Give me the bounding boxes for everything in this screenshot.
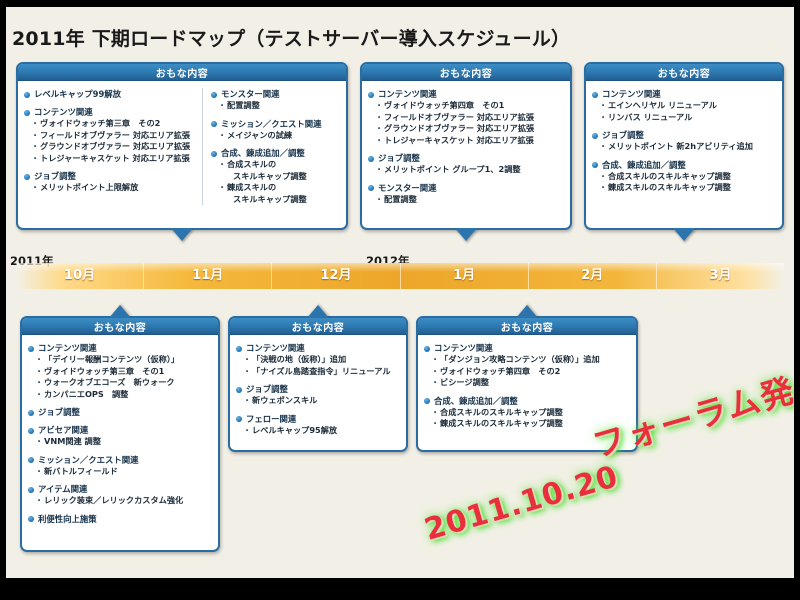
group-heading: コンテンツ関連	[28, 342, 212, 354]
content-group: ジョブ調整	[28, 406, 212, 418]
content-group: 合成、錬成追加／調整 合成スキルのスキルキャップ調整 錬成スキルのスキルキャップ…	[424, 395, 630, 430]
connector-arrow-down-icon	[673, 228, 695, 241]
content-group: レベルキャップ99解放	[24, 88, 202, 100]
group-item: 新ウェポンスキル	[236, 395, 400, 407]
group-heading: ジョブ調整	[368, 152, 564, 164]
connector-arrow-up-icon	[307, 305, 329, 318]
group-item: 合成スキルの	[211, 159, 340, 171]
timeline-month-cell: 11月	[144, 263, 272, 289]
frame-edge-right	[794, 0, 800, 600]
panel-column-left: コンテンツ関連 「ダンジョン攻略コンテンツ（仮称）」追加 ヴォイドウォッチ第四章…	[424, 342, 630, 430]
group-heading: ジョブ調整	[236, 383, 400, 395]
connector-arrow-up-icon	[516, 305, 538, 318]
group-item: 新バトルフィールド	[28, 466, 212, 478]
content-group: コンテンツ関連 エインヘリヤル リニューアル リンバス リニューアル	[592, 88, 776, 123]
top-panel-december: おもな内容 コンテンツ関連 ヴォイドウォッチ第四章 その1 フィールドオブヴァラ…	[360, 62, 572, 230]
content-group: フェロー関連 レベルキャップ95解放	[236, 413, 400, 437]
group-item: エインヘリヤル リニューアル	[592, 100, 776, 112]
connector-arrow-down-icon	[455, 228, 477, 241]
content-group: ミッション／クエスト関連 新バトルフィールド	[28, 454, 212, 478]
group-item: 合成スキルのスキルキャップ調整	[424, 407, 630, 419]
group-item: メリットポイント 新2hアビリティ追加	[592, 141, 776, 153]
page-title: 2011年 下期ロードマップ（テストサーバー導入スケジュール）	[12, 24, 570, 51]
content-group: 利便性向上施策	[28, 513, 212, 525]
panel-header-label: おもな内容	[586, 64, 782, 81]
content-group: アイテム関連 レリック装束／レリックカスタム強化	[28, 483, 212, 507]
group-heading: コンテンツ関連	[368, 88, 564, 100]
group-heading: 合成、錬成追加／調整	[592, 159, 776, 171]
bottom-panel-december: おもな内容 コンテンツ関連 「決戦の地（仮称）」追加 「ナイズル島踏査指令」リニ…	[228, 316, 408, 452]
timeline-month-cell: 12月	[272, 263, 400, 289]
panel-column-left: コンテンツ関連 エインヘリヤル リニューアル リンバス リニューアル ジョブ調整…	[592, 88, 776, 194]
group-item: フィールドオブヴァラー 対応エリア拡張	[24, 130, 202, 142]
content-group: アビセア関連 VNM関連 調整	[28, 424, 212, 448]
group-item: カンパニエOPS 調整	[28, 389, 212, 401]
content-group: ジョブ調整 メリットポイント 新2hアビリティ追加	[592, 129, 776, 153]
group-item: リンバス リニューアル	[592, 112, 776, 124]
panel-column-left: レベルキャップ99解放 コンテンツ関連 ヴォイドウォッチ第三章 その2 フィール…	[24, 88, 202, 205]
panel-column-left: コンテンツ関連 「デイリー報酬コンテンツ（仮称）」 ヴォイドウォッチ第三章 その…	[28, 342, 212, 525]
content-group: ジョブ調整 メリットポイント上限解放	[24, 170, 202, 194]
group-item: レリック装束／レリックカスタム強化	[28, 495, 212, 507]
group-heading: ジョブ調整	[24, 170, 202, 182]
panel-column-left: コンテンツ関連 ヴォイドウォッチ第四章 その1 フィールドオブヴァラー 対応エリ…	[368, 88, 564, 205]
panel-header-label: おもな内容	[362, 64, 570, 81]
group-item: VNM関連 調整	[28, 436, 212, 448]
group-heading: ミッション／クエスト関連	[211, 118, 340, 130]
timeline-month-cell: 3月	[657, 263, 784, 289]
connector-arrow-down-icon	[171, 228, 193, 241]
content-group: 合成、錬成追加／調整 合成スキルの スキルキャップ調整 錬成スキルの スキルキャ…	[211, 147, 340, 205]
content-group: 合成、錬成追加／調整 合成スキルのスキルキャップ調整 錬成スキルのスキルキャップ…	[592, 159, 776, 194]
group-heading: ミッション／クエスト関連	[28, 454, 212, 466]
group-item: レベルキャップ95解放	[236, 425, 400, 437]
group-item: スキルキャップ調整	[211, 194, 340, 206]
group-heading: モンスター関連	[211, 88, 340, 100]
timeline-bar: 10月 11月 12月 1月 2月 3月	[16, 263, 784, 289]
content-group: モンスター関連 配置調整	[211, 88, 340, 112]
group-item: ヴォイドウォッチ第三章 その1	[28, 366, 212, 378]
frame-edge-bottom	[0, 578, 800, 600]
content-group: コンテンツ関連 「デイリー報酬コンテンツ（仮称）」 ヴォイドウォッチ第三章 その…	[28, 342, 212, 400]
watermark-date: 2011.10.20	[421, 459, 623, 548]
group-heading: フェロー関連	[236, 413, 400, 425]
group-item: 錬成スキルのスキルキャップ調整	[424, 418, 630, 430]
group-item: グラウンドオブヴァラー 対応エリア拡張	[368, 123, 564, 135]
timeline-month-cell: 1月	[401, 263, 529, 289]
group-item: ヴォイドウォッチ第四章 その1	[368, 100, 564, 112]
group-heading: コンテンツ関連	[24, 106, 202, 118]
panel-column-left: コンテンツ関連 「決戦の地（仮称）」追加 「ナイズル島踏査指令」リニューアル ジ…	[236, 342, 400, 436]
roadmap-slide: 2011年 下期ロードマップ（テストサーバー導入スケジュール） おもな内容 レベ…	[0, 0, 800, 600]
content-group: コンテンツ関連 「決戦の地（仮称）」追加 「ナイズル島踏査指令」リニューアル	[236, 342, 400, 377]
group-item: 錬成スキルのスキルキャップ調整	[592, 182, 776, 194]
group-heading: 合成、錬成追加／調整	[424, 395, 630, 407]
group-item: 配置調整	[211, 100, 340, 112]
group-heading: モンスター関連	[368, 182, 564, 194]
group-heading: レベルキャップ99解放	[24, 88, 202, 100]
panel-header-label: おもな内容	[18, 64, 346, 81]
group-item: トレジャーキャスケット 対応エリア拡張	[24, 153, 202, 165]
group-item: 「ダンジョン攻略コンテンツ（仮称）」追加	[424, 354, 630, 366]
group-heading: ジョブ調整	[592, 129, 776, 141]
group-item: 「ナイズル島踏査指令」リニューアル	[236, 366, 400, 378]
content-group: ミッション／クエスト関連 メイジャンの試練	[211, 118, 340, 142]
content-group: ジョブ調整 新ウェポンスキル	[236, 383, 400, 407]
panel-header-label: おもな内容	[230, 318, 406, 335]
top-panel-january-march: おもな内容 コンテンツ関連 エインヘリヤル リニューアル リンバス リニューアル…	[584, 62, 784, 230]
group-item: スキルキャップ調整	[211, 171, 340, 183]
content-group: コンテンツ関連 ヴォイドウォッチ第四章 その1 フィールドオブヴァラー 対応エリ…	[368, 88, 564, 146]
group-item: メリットポイント グループ1、2調整	[368, 164, 564, 176]
group-item: 「決戦の地（仮称）」追加	[236, 354, 400, 366]
group-item: 合成スキルのスキルキャップ調整	[592, 171, 776, 183]
group-item: フィールドオブヴァラー 対応エリア拡張	[368, 112, 564, 124]
bottom-panel-october: おもな内容 コンテンツ関連 「デイリー報酬コンテンツ（仮称）」 ヴォイドウォッチ…	[20, 316, 220, 552]
content-group: コンテンツ関連 「ダンジョン攻略コンテンツ（仮称）」追加 ヴォイドウォッチ第四章…	[424, 342, 630, 389]
frame-edge-left	[0, 0, 6, 600]
content-group: モンスター関連 配置調整	[368, 182, 564, 206]
group-heading: コンテンツ関連	[424, 342, 630, 354]
top-panel-october-november: おもな内容 レベルキャップ99解放 コンテンツ関連 ヴォイドウォッチ第三章 その…	[16, 62, 348, 230]
panel-header-label: おもな内容	[418, 318, 636, 335]
group-item: メリットポイント上限解放	[24, 182, 202, 194]
frame-edge-top	[0, 0, 800, 7]
group-item: トレジャーキャスケット 対応エリア拡張	[368, 135, 564, 147]
group-heading: ジョブ調整	[28, 406, 212, 418]
group-heading: アイテム関連	[28, 483, 212, 495]
timeline-month-cell: 2月	[529, 263, 657, 289]
panel-header-label: おもな内容	[22, 318, 218, 335]
group-item: メイジャンの試練	[211, 130, 340, 142]
content-group: ジョブ調整 メリットポイント グループ1、2調整	[368, 152, 564, 176]
content-group: コンテンツ関連 ヴォイドウォッチ第三章 その2 フィールドオブヴァラー 対応エリ…	[24, 106, 202, 164]
timeline-month-cell: 10月	[16, 263, 144, 289]
panel-column-right: モンスター関連 配置調整 ミッション／クエスト関連 メイジャンの試練 合成、錬成…	[202, 88, 340, 205]
group-item: ウォークオブエコーズ 新ウォーク	[28, 377, 212, 389]
group-item: グラウンドオブヴァラー 対応エリア拡張	[24, 141, 202, 153]
group-item: 錬成スキルの	[211, 182, 340, 194]
group-item: ヴォイドウォッチ第三章 その2	[24, 118, 202, 130]
group-item: ヴォイドウォッチ第四章 その2	[424, 366, 630, 378]
group-heading: 利便性向上施策	[28, 513, 212, 525]
group-item: ビシージ調整	[424, 377, 630, 389]
group-heading: アビセア関連	[28, 424, 212, 436]
bottom-panel-february: おもな内容 コンテンツ関連 「ダンジョン攻略コンテンツ（仮称）」追加 ヴォイドウ…	[416, 316, 638, 452]
group-heading: コンテンツ関連	[236, 342, 400, 354]
group-heading: 合成、錬成追加／調整	[211, 147, 340, 159]
connector-arrow-up-icon	[109, 305, 131, 318]
group-item: 「デイリー報酬コンテンツ（仮称）」	[28, 354, 212, 366]
group-item: 配置調整	[368, 194, 564, 206]
group-heading: コンテンツ関連	[592, 88, 776, 100]
